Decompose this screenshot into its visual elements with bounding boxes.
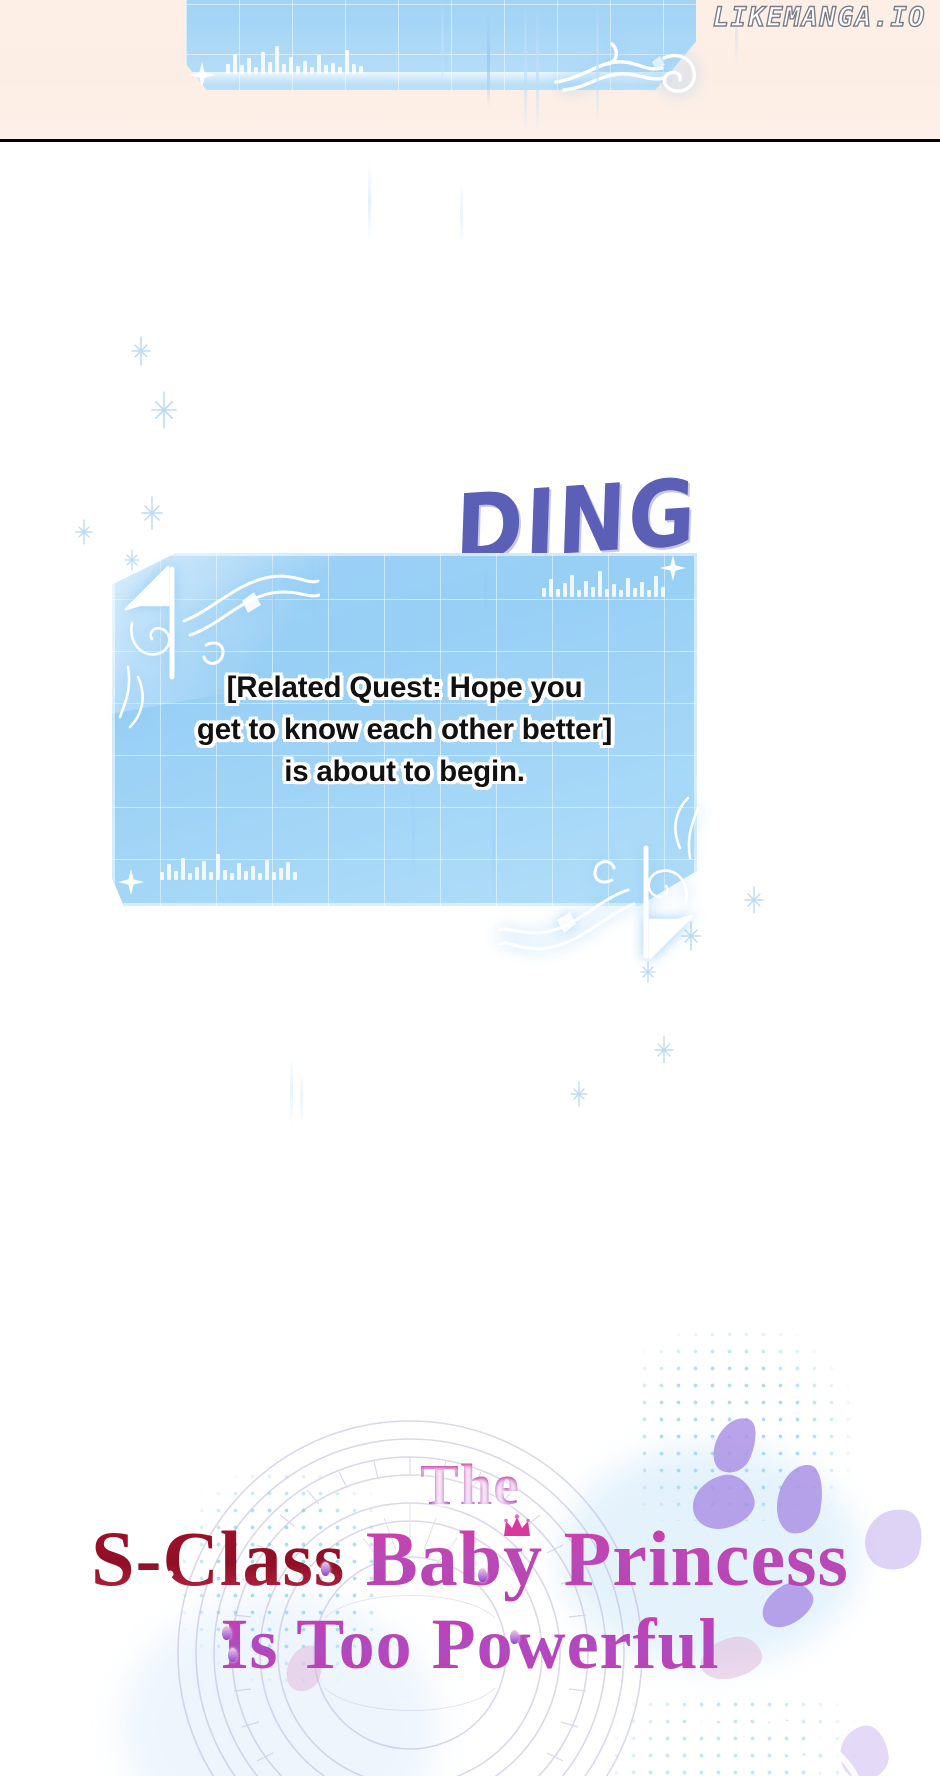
filigree-ornament-icon bbox=[110, 549, 320, 749]
light-streak bbox=[524, 0, 527, 132]
light-streak bbox=[290, 1056, 293, 1126]
filigree-ornament-icon bbox=[552, 28, 702, 110]
gem-ornament bbox=[478, 1568, 487, 1582]
gem-ornament bbox=[510, 1630, 519, 1644]
ribbon-swirl bbox=[690, 1700, 890, 1776]
light-streak bbox=[487, 12, 490, 108]
sparkle-icon bbox=[140, 496, 164, 530]
panel-main: DING bbox=[0, 141, 940, 1776]
gem-ornament bbox=[222, 1626, 231, 1640]
sparkle-icon bbox=[130, 336, 152, 366]
sparkle-icon bbox=[570, 1081, 588, 1107]
sparkle-icon bbox=[744, 886, 764, 914]
sparkle-icon bbox=[150, 391, 178, 429]
title-word-princess: Princess bbox=[564, 1515, 849, 1602]
equalizer-bars-icon bbox=[226, 42, 363, 74]
sparkle-icon bbox=[654, 1036, 674, 1064]
light-streak bbox=[441, 0, 444, 88]
webtoon-page: LIKEMANGA.IO bbox=[0, 0, 940, 1776]
light-streak bbox=[536, 6, 539, 130]
filigree-ornament-icon bbox=[498, 776, 708, 976]
light-streak bbox=[300, 1071, 303, 1125]
title-line-the: The bbox=[0, 1456, 940, 1514]
light-streak bbox=[596, 0, 599, 122]
panel-divider bbox=[0, 139, 940, 142]
sparkle-icon bbox=[75, 519, 93, 545]
ribbon-swirl bbox=[20, 1564, 180, 1744]
site-watermark: LIKEMANGA.IO bbox=[713, 2, 926, 33]
gem-ornament bbox=[321, 1562, 330, 1576]
gem-ornament bbox=[228, 1648, 237, 1662]
series-logo-area: The S-Class Baby Princess Is Too Powerfu… bbox=[0, 1296, 940, 1776]
crown-icon bbox=[502, 1514, 532, 1538]
light-streak bbox=[460, 183, 463, 245]
light-streak bbox=[368, 163, 371, 241]
